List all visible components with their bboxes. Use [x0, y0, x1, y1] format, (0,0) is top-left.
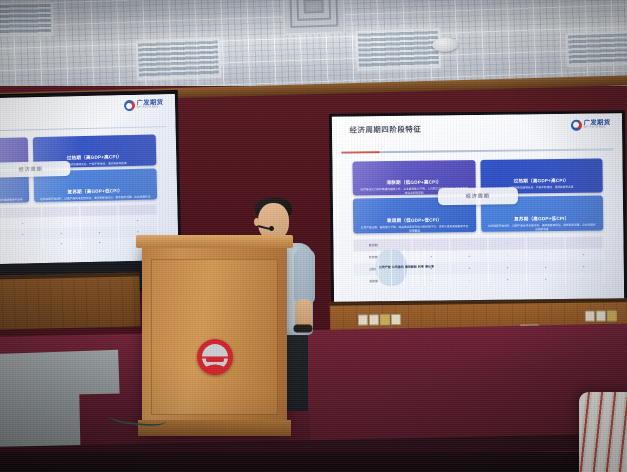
- table-cell: +: [451, 250, 489, 263]
- table-cell: +: [81, 237, 120, 249]
- logo-subtitle: GF FUTURES: [137, 107, 164, 110]
- logo-subtitle: GF FUTURES: [584, 126, 611, 129]
- wall-outlet: [380, 314, 390, 325]
- logo-mark-icon: [124, 100, 135, 111]
- table-header-cell: 通货膨胀: [405, 248, 418, 285]
- headset-mic-capsule-icon: [269, 226, 274, 231]
- slide-title: 经济周期四阶段特征: [349, 123, 421, 135]
- stage-front-face: [0, 452, 627, 472]
- cycle-center-label: 经济周期: [0, 161, 71, 178]
- table-header-cell: 公司产能: [379, 249, 392, 286]
- wall-outlet: [391, 314, 401, 325]
- table-cell: -: [527, 249, 565, 262]
- table-cell: -: [80, 205, 119, 217]
- speaker-sleeve-right: [294, 249, 315, 305]
- wristwatch-icon: [294, 325, 312, 332]
- quadrant-group: 滞胀期（低GDP+高CPI） 经济增长乏力并伴随通货膨胀上升，企业盈利能力下降，…: [353, 158, 603, 234]
- wall-paneling-left: [0, 272, 141, 329]
- wall-outlet: [596, 310, 606, 321]
- center-label-text: 经济周期: [466, 192, 490, 199]
- podium-top-surface: [136, 235, 293, 248]
- institution-emblem-icon: [197, 339, 233, 375]
- slide-right: 经济周期四阶段特征 广发期货 GF FUTURES 滞胀期（低GDP+高CPI）…: [332, 113, 624, 303]
- table-cell: +: [451, 262, 489, 275]
- table-cell: +: [489, 273, 527, 286]
- table-header-cell: 增长率: [425, 248, 435, 285]
- table-cell: -: [527, 237, 565, 250]
- table-cell: +: [565, 248, 603, 261]
- quadrant-body: 公司产能过剩，盈利能力下降，商品供应商存在压力而价格下行，货币与信贷紧缩需求不足…: [353, 223, 475, 234]
- screen-surface-right: 经济周期四阶段特征 广发期货 GF FUTURES 滞胀期（低GDP+高CPI）…: [332, 113, 624, 303]
- wall-outlet: [369, 314, 379, 325]
- wall-outlet: [607, 310, 617, 321]
- table-cell: -: [565, 236, 603, 249]
- table-cell: -: [450, 238, 488, 251]
- quadrant-body: 公司产能过剩，盈利能力下降，商品供应商存在压力而价格下行，货币与信贷紧缩需求不足…: [0, 196, 29, 204]
- projection-screen-right: 经济周期四阶段特征 广发期货 GF FUTURES 滞胀期（低GDP+高CPI）…: [329, 110, 627, 306]
- table-header-row: 公司产能 公司盈利 通货膨胀 利率 增长率: [376, 249, 407, 286]
- podium-front-panel: [151, 259, 278, 415]
- table-cell: +: [43, 238, 82, 250]
- wall-outlet: [585, 311, 595, 322]
- table-cell: +: [4, 228, 43, 240]
- table-cell: -: [451, 274, 489, 287]
- table-row: 滞胀期 - - + + -: [0, 236, 158, 252]
- cycle-center-label: 经济周期: [438, 187, 518, 205]
- slide-table-right: 公司产能 公司盈利 通货膨胀 利率 增长率 衰退期 - - - - -: [354, 236, 604, 287]
- table-cell: -: [565, 273, 603, 286]
- quadrant-body: 经济底部开始回升，过剩产能尚未全部消化，通货膨胀率低位，需求稳步回暖，企业经营状…: [481, 221, 603, 232]
- slide-table-left: 公司产能 公司盈利 通货膨胀 利率 增长率 衰退期 - - - - -: [0, 204, 158, 253]
- wall-outlet: [358, 314, 368, 325]
- brand-logo: 广发期货 GF FUTURES: [124, 99, 164, 111]
- lecture-hall-photo: 经济周期四阶段特征 广发期货 GF FUTURES 滞胀期（低GDP+高CPI）…: [0, 0, 627, 472]
- foreground-chair: [579, 392, 627, 472]
- table-cell: +: [489, 261, 527, 274]
- logo-mark-icon: [571, 119, 582, 130]
- center-label-text: 经济周期: [19, 166, 43, 174]
- table-cell: +: [527, 273, 565, 286]
- podium: [142, 243, 287, 433]
- table-header-cell: 公司盈利: [392, 249, 405, 286]
- quadrant-group: 滞胀期（低GDP+高CPI） 经济增长乏力并伴随通货膨胀上升，企业盈利能力下降，…: [0, 134, 157, 204]
- slide-header-right: 经济周期四阶段特征 广发期货 GF FUTURES: [332, 113, 622, 152]
- table-cell: -: [80, 216, 119, 228]
- table-cell: +: [565, 260, 603, 273]
- table-cell: -: [4, 239, 43, 251]
- table-cell: +: [527, 261, 565, 274]
- brand-logo: 广发期货 GF FUTURES: [571, 119, 611, 130]
- table-cell: -: [489, 237, 527, 250]
- table-cell: -: [489, 249, 527, 262]
